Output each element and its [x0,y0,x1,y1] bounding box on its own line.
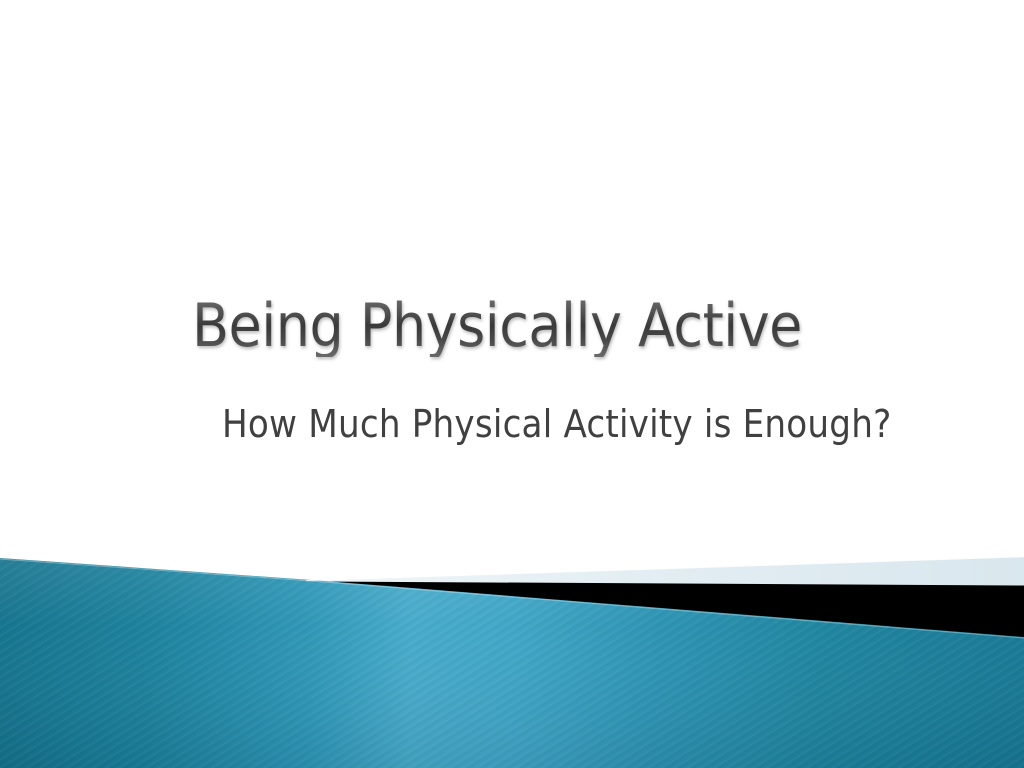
slide-subtitle[interactable]: How Much Physical Activity is Enough? [222,404,1024,446]
slide-title-placeholder[interactable]: Being Physically Active [96,296,1024,357]
slide-text-block: Being Physically Active Being Physically… [0,0,1024,768]
slide-subtitle-placeholder[interactable]: How Much Physical Activity is Enough? [96,404,1024,446]
slide-canvas: Being Physically Active Being Physically… [0,0,1024,768]
slide-title[interactable]: Being Physically Active [192,296,1024,357]
